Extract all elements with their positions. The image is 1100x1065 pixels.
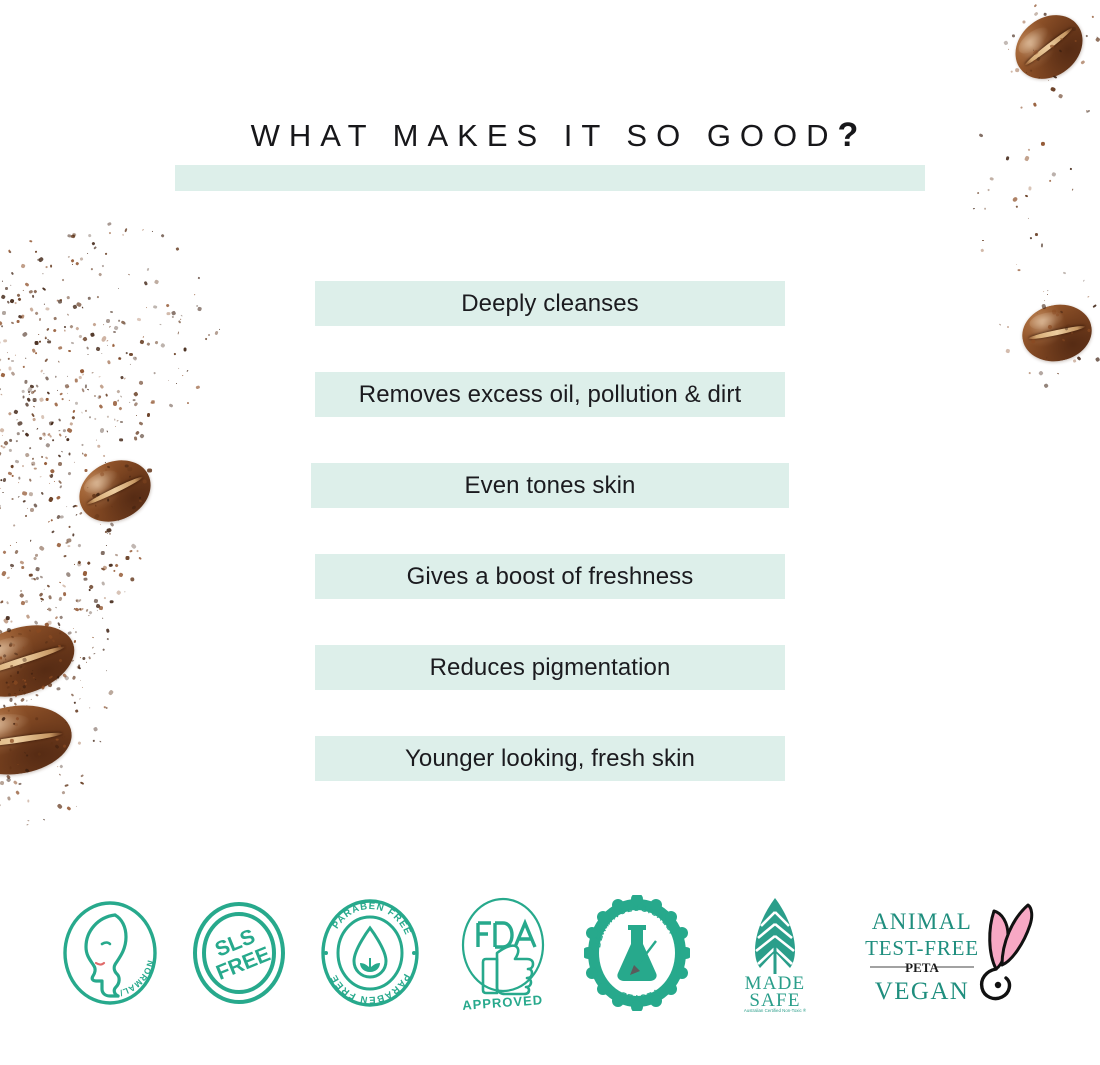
coffee-ground-speck	[1035, 233, 1038, 236]
coffee-bean-top-right	[1003, 2, 1095, 92]
coffee-ground-speck	[87, 253, 89, 255]
badge-made-safe-subtitle: Australian Certified Non-Toxic ®	[744, 1008, 807, 1012]
coffee-ground-speck	[1034, 11, 1039, 16]
leaf-icon: MADE SAFE Australian Certified Non-Toxic…	[721, 894, 829, 1012]
benefit-label: Even tones skin	[465, 472, 636, 500]
coffee-ground-speck	[79, 257, 83, 260]
coffee-ground-speck	[1063, 271, 1066, 274]
coffee-ground-speck	[1039, 76, 1041, 78]
benefit-label: Reduces pigmentation	[430, 654, 671, 682]
coffee-ground-speck	[982, 240, 984, 241]
coffee-ground-speck	[1034, 4, 1037, 7]
coffee-ground-speck	[1044, 13, 1047, 16]
coffee-ground-speck	[973, 208, 975, 209]
coffee-ground-speck	[142, 229, 144, 231]
benefit-row: Removes excess oil, pollution & dirt	[315, 372, 785, 417]
coffee-ground-speck	[1024, 156, 1029, 162]
coffee-ground-speck	[29, 240, 32, 243]
coffee-ground-speck	[72, 264, 73, 265]
coffee-ground-speck	[1030, 237, 1033, 240]
coffee-ground-speck	[8, 250, 11, 253]
coffee-ground-speck	[1086, 109, 1091, 113]
badge-vegan-line4: VEGAN	[875, 978, 970, 1005]
bunny-ears-icon: ANIMAL TEST-FREE PETA VEGAN	[860, 895, 1040, 1011]
coffee-ground-speck	[1050, 45, 1054, 48]
coffee-ground-speck	[75, 262, 79, 266]
coffee-ground-speck	[71, 233, 77, 239]
coffee-ground-speck	[1086, 109, 1087, 110]
coffee-ground-speck	[1071, 27, 1075, 31]
page-title-question-mark: ?	[838, 116, 859, 154]
thumbs-up-icon: APPROVED	[453, 895, 553, 1011]
coffee-ground-speck	[1003, 40, 1008, 45]
flask-icon: DERMATOLOGICALLY TESTED	[584, 895, 690, 1011]
benefit-row: Younger looking, fresh skin	[315, 736, 785, 781]
benefit-label: Gives a boost of freshness	[407, 563, 694, 591]
coffee-ground-speck	[1075, 40, 1077, 42]
badge-normal-oily-skin: NORMAL/OILY SKIN NORMAL/OILY SKIN	[60, 894, 160, 1012]
coffee-ground-speck	[1028, 187, 1031, 191]
coffee-ground-speck	[1059, 49, 1062, 52]
badge-animal-test-free-vegan: ANIMAL TEST-FREE PETA VEGAN	[860, 894, 1040, 1012]
coffee-ground-speck	[102, 264, 105, 267]
coffee-ground-speck	[1033, 102, 1037, 106]
badge-vegan-peta: PETA	[905, 960, 939, 975]
coffee-ground-speck	[1070, 168, 1072, 170]
badge-dermatologically-tested: DERMATOLOGICALLY TESTED	[584, 894, 690, 1012]
coffee-ground-speck	[108, 232, 111, 234]
coffee-ground-speck	[146, 268, 149, 272]
benefit-label: Younger looking, fresh skin	[405, 745, 695, 773]
coffee-ground-speck	[1021, 107, 1023, 109]
coffee-ground-speck	[9, 251, 11, 253]
coffee-ground-speck	[1028, 218, 1029, 219]
coffee-ground-speck	[1050, 86, 1056, 92]
face-profile-icon: NORMAL/OILY SKIN	[60, 897, 160, 1009]
coffee-ground-speck	[988, 189, 990, 191]
coffee-ground-speck	[42, 273, 44, 275]
coffee-ground-speck	[1048, 80, 1049, 81]
coffee-ground-speck	[50, 265, 52, 268]
coffee-ground-speck	[92, 241, 96, 245]
benefit-label: Removes excess oil, pollution & dirt	[359, 381, 741, 409]
coffee-ground-speck	[1095, 37, 1097, 40]
page-title-text: WHAT MAKES IT SO GOOD	[251, 118, 838, 153]
coffee-ground-speck	[37, 256, 43, 262]
certification-badge-row: NORMAL/OILY SKIN NORMAL/OILY SKIN SLS	[60, 893, 1040, 1013]
coffee-ground-speck	[1015, 264, 1016, 266]
coffee-ground-speck	[198, 277, 200, 279]
coffee-ground-speck	[1007, 49, 1008, 50]
coffee-ground-speck	[46, 266, 48, 268]
coffee-ground-speck	[87, 234, 91, 238]
water-droplet-leaf-icon: PARABEN FREE PARABEN FREE	[318, 896, 422, 1010]
badge-sls-free: SLS FREE	[191, 894, 287, 1012]
coffee-ground-speck	[70, 259, 74, 263]
coffee-ground-speck	[1025, 195, 1028, 198]
coffee-ground-speck	[1080, 60, 1085, 65]
coffee-ground-speck	[1091, 16, 1094, 19]
badge-vegan-line2: TEST-FREE	[865, 936, 979, 960]
badge-vegan-line1: ANIMAL	[872, 909, 972, 934]
coffee-ground-speck	[98, 273, 102, 277]
coffee-ground-speck	[1033, 49, 1034, 50]
coffee-ground-speck	[1033, 49, 1039, 55]
coffee-ground-speck	[73, 234, 75, 236]
coffee-ground-speck	[11, 271, 15, 275]
coffee-ground-speck	[176, 247, 180, 251]
page-title: WHAT MAKES IT SO GOOD?	[0, 118, 1100, 152]
coffee-ground-speck	[94, 246, 97, 249]
coffee-ground-speck	[1052, 76, 1057, 80]
coffee-ground-speck	[127, 273, 129, 275]
coffee-ground-speck	[1034, 60, 1037, 62]
coffee-ground-speck	[1030, 69, 1032, 72]
headline-highlight-band	[175, 165, 925, 191]
coffee-ground-speck	[1018, 269, 1021, 271]
coffee-ground-speck	[989, 177, 994, 181]
product-benefits-infographic: WHAT MAKES IT SO GOOD? Deeply cleansesRe…	[0, 0, 1100, 1065]
badge-paraben-free: PARABEN FREE PARABEN FREE PARABEN FREE	[318, 894, 422, 1012]
coffee-ground-speck	[981, 249, 985, 253]
coffee-ground-speck	[1096, 37, 1100, 42]
coffee-ground-speck	[71, 234, 75, 237]
coffee-ground-speck	[1026, 71, 1027, 72]
coffee-ground-speck	[160, 233, 164, 237]
coffee-ground-speck	[107, 222, 112, 226]
coffee-ground-speck	[1011, 34, 1014, 37]
coffee-ground-speck	[1015, 68, 1020, 72]
coffee-ground-speck	[1036, 57, 1041, 62]
coffee-ground-speck	[68, 234, 72, 238]
coffee-ground-speck	[1011, 196, 1018, 202]
benefit-row: Reduces pigmentation	[315, 645, 785, 690]
coffee-ground-speck	[91, 267, 94, 270]
badge-fda-approved: APPROVED	[453, 894, 553, 1012]
coffee-ground-speck	[1051, 171, 1056, 176]
coffee-ground-speck	[1023, 21, 1026, 24]
coffee-ground-speck	[984, 207, 985, 209]
benefits-list: Deeply cleansesRemoves excess oil, pollu…	[0, 281, 1100, 827]
headline-section: WHAT MAKES IT SO GOOD?	[0, 118, 1100, 152]
coffee-ground-speck	[1060, 38, 1063, 41]
coffee-ground-speck	[1048, 179, 1051, 182]
benefit-row: Deeply cleanses	[315, 281, 785, 326]
badge-made-safe: MADE SAFE Australian Certified Non-Toxic…	[721, 894, 829, 1012]
coffee-ground-speck	[124, 228, 127, 232]
bunny-ear-right	[1002, 905, 1032, 965]
coffee-ground-speck	[104, 253, 107, 256]
benefit-row: Even tones skin	[311, 463, 789, 508]
coffee-ground-speck	[34, 250, 37, 253]
coffee-ground-speck	[37, 259, 40, 261]
coffee-ground-speck	[20, 263, 25, 268]
coffee-ground-speck	[152, 231, 153, 232]
coffee-ground-speck	[122, 234, 124, 236]
coffee-ground-speck	[976, 192, 979, 195]
benefit-row: Gives a boost of freshness	[315, 554, 785, 599]
coffee-ground-speck	[1006, 156, 1009, 160]
coffee-ground-speck	[1016, 205, 1018, 208]
benefit-label: Deeply cleanses	[461, 290, 639, 318]
coffee-ground-speck	[1085, 34, 1087, 36]
coffee-ground-speck	[1058, 94, 1063, 99]
badge-fda-approved-line2: APPROVED	[462, 992, 544, 1011]
coffee-ground-speck	[68, 255, 70, 257]
double-circle-icon: SLS FREE	[191, 899, 287, 1007]
coffee-ground-speck	[1011, 71, 1013, 73]
coffee-ground-speck	[1072, 189, 1073, 191]
coffee-ground-speck	[1041, 243, 1044, 247]
